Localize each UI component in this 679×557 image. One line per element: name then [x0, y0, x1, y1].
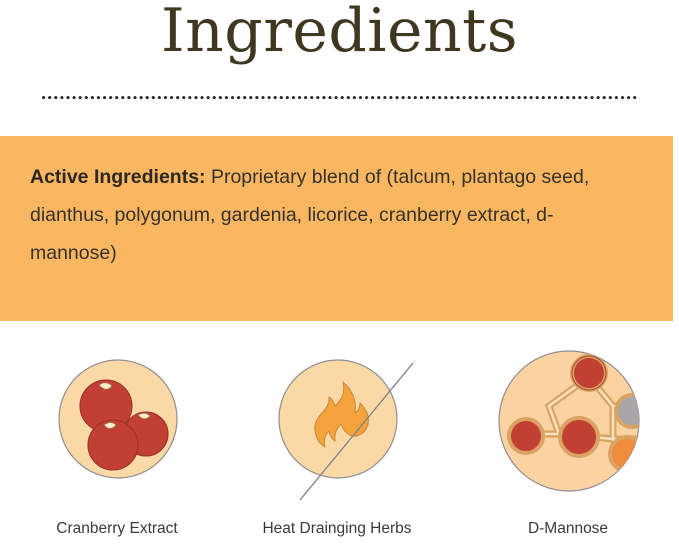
page-title: Ingredients: [0, 0, 679, 66]
molecule-icon: [497, 349, 641, 493]
active-ingredients-panel: Active Ingredients: Proprietary blend of…: [0, 136, 673, 321]
ingredient-card-cranberry-extract: Cranberry Extract: [12, 352, 222, 557]
ingredient-caption-heat-drainging-herbs: Heat Drainging Herbs: [232, 520, 442, 538]
ingredient-card-heat-drainging-herbs: Heat Drainging Herbs: [232, 352, 442, 557]
ingredient-caption-cranberry-extract: Cranberry Extract: [12, 520, 222, 538]
cranberry-icon: [57, 358, 179, 480]
ingredient-card-d-mannose: D-Mannose: [463, 352, 673, 557]
dotted-divider: [42, 96, 639, 100]
active-ingredients-text: Active Ingredients: Proprietary blend of…: [30, 158, 640, 272]
ingredient-caption-d-mannose: D-Mannose: [463, 520, 673, 538]
active-ingredients-label: Active Ingredients:: [30, 166, 206, 188]
ingredient-icon-row: Cranberry Extract Heat Drainging Herbs: [0, 352, 679, 557]
no-heat-flame-icon: [277, 358, 399, 480]
